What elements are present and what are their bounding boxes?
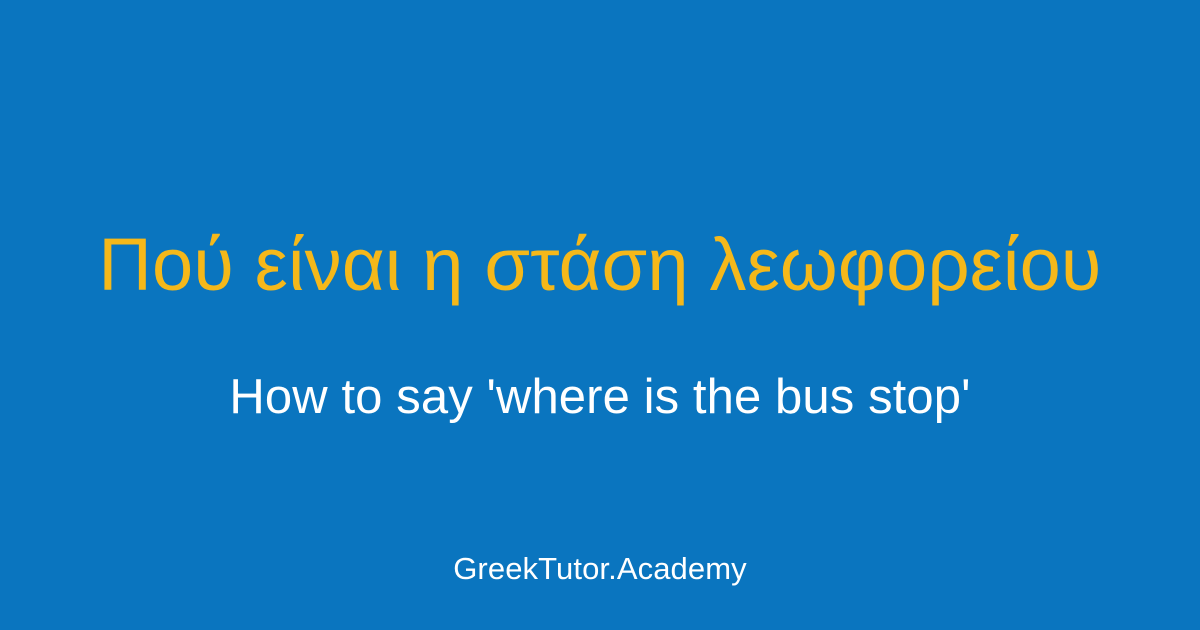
greek-phrase-headline: Πού είναι η στάση λεωφορείου [0, 228, 1200, 302]
english-translation-subtitle: How to say 'where is the bus stop' [0, 373, 1200, 422]
card-content-stage: Πού είναι η στάση λεωφορείου How to say … [0, 0, 1200, 630]
social-share-card: Πού είναι η στάση λεωφορείου How to say … [0, 0, 1200, 630]
site-brand-footer: GreekTutor.Academy [0, 553, 1200, 584]
